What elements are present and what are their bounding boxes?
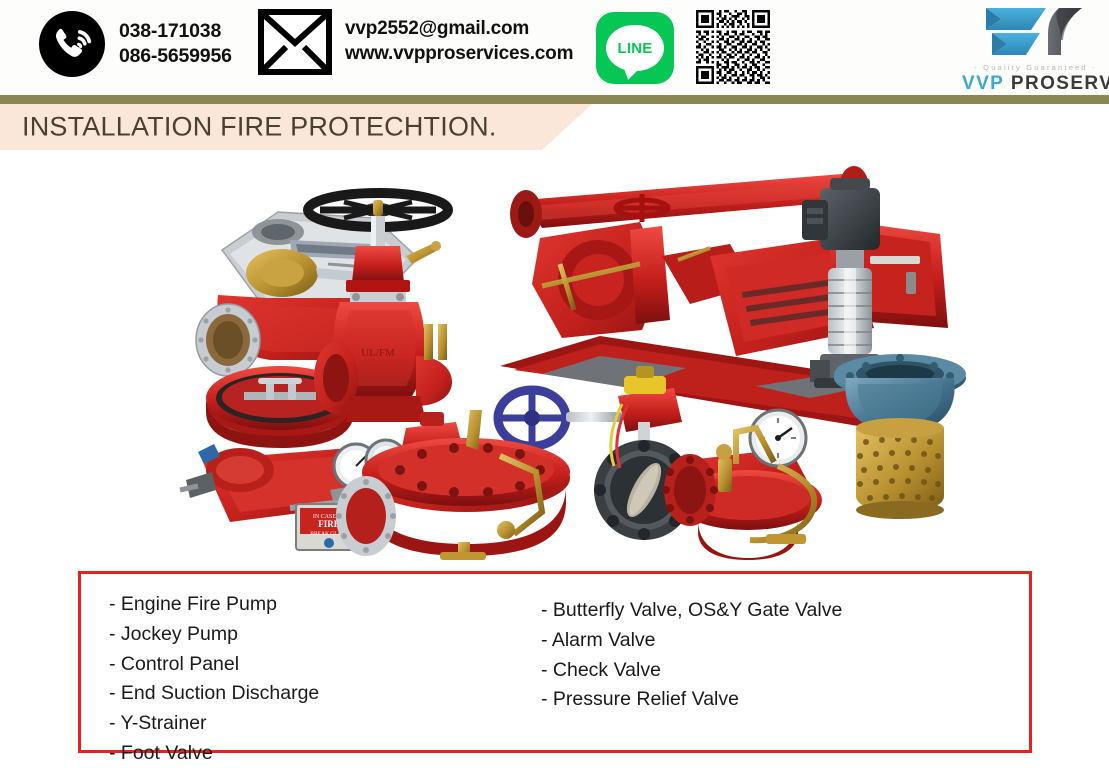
list-item: - Engine Fire Pump: [109, 590, 521, 620]
vvp-chevron-logo-icon: [962, 4, 1109, 62]
logo-brand-secondary: PROSERVICES: [1011, 73, 1109, 94]
email-address[interactable]: vvp2552@gmail.com: [345, 17, 573, 42]
line-speech-bubble-icon: LINE: [606, 25, 664, 71]
equipment-list-right-column: - Butterfly Valve, OS&Y Gate Valve - Ala…: [521, 574, 1029, 750]
line-app-icon[interactable]: LINE: [596, 12, 674, 84]
list-item: - Alarm Valve: [541, 626, 1029, 656]
list-item: - Y-Strainer: [109, 709, 521, 739]
phone-contact-block: 038-171038 086-5659956: [38, 10, 232, 78]
equipment-list-left-column: - Engine Fire Pump - Jockey Pump - Contr…: [81, 574, 521, 750]
email-contact-block: vvp2552@gmail.com www.vvpproservices.com: [258, 9, 573, 75]
list-item: - Control Panel: [109, 650, 521, 680]
list-item: - Jockey Pump: [109, 620, 521, 650]
svg-text:UL/FM: UL/FM: [361, 347, 395, 359]
list-item: - Check Valve: [541, 656, 1029, 686]
list-item: - Pressure Relief Valve: [541, 685, 1029, 715]
logo-brand-primary: VVP: [962, 73, 1004, 94]
page-title: INSTALLATION FIRE PROTECHTION.: [22, 112, 497, 143]
header-bar: 038-171038 086-5659956 vvp2552@gmail.com…: [0, 0, 1109, 95]
fire-protection-equipment-collage: UL/FM: [170, 160, 1000, 560]
email-and-website: vvp2552@gmail.com www.vvpproservices.com: [345, 17, 573, 66]
list-item: - Butterfly Valve, OS&Y Gate Valve: [541, 596, 1029, 626]
website-url[interactable]: www.vvpproservices.com: [345, 42, 573, 67]
envelope-icon: [258, 9, 332, 75]
logo-wordmark: VVP PROSERVICES: [962, 73, 1109, 95]
poster-page: 038-171038 086-5659956 vvp2552@gmail.com…: [0, 0, 1109, 768]
phone-circle-icon: [38, 10, 106, 78]
title-banner: INSTALLATION FIRE PROTECHTION.: [0, 104, 592, 150]
list-item: - End Suction Discharge: [109, 679, 521, 709]
phone-number-2: 086-5659956: [119, 44, 232, 69]
phone-number-1: 038-171038: [119, 19, 232, 44]
list-item: - Foot Valve: [109, 739, 521, 768]
equipment-list-box: - Engine Fire Pump - Jockey Pump - Contr…: [78, 571, 1032, 753]
line-app-label: LINE: [618, 41, 653, 56]
olive-divider-rule: [0, 95, 1109, 104]
logo-tagline: - Quality Guaranteed -: [962, 63, 1109, 72]
company-logo: - Quality Guaranteed - VVP PROSERVICES: [962, 4, 1109, 94]
phone-numbers: 038-171038 086-5659956: [119, 19, 232, 70]
qr-code-icon[interactable]: [694, 8, 772, 86]
